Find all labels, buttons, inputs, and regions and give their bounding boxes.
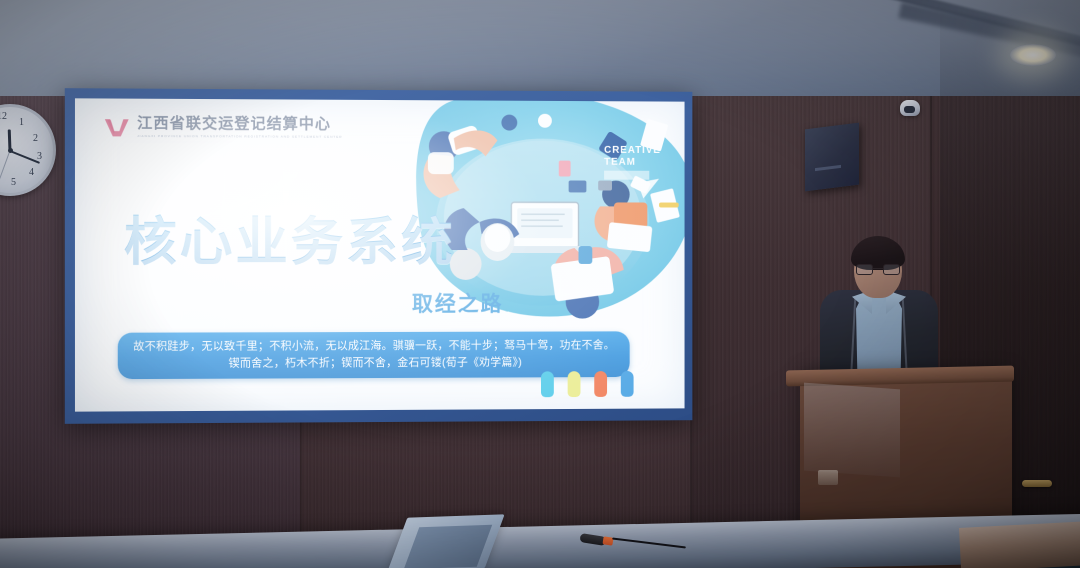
organization-logo-mark-icon xyxy=(104,117,130,137)
org-name-en: JIANGXI PROVINCE UNION TRANSPORTATION RE… xyxy=(137,135,342,139)
slide-title: 核心业务系统 xyxy=(124,199,456,275)
org-name-cn: 江西省联交运登记结算中心 xyxy=(137,117,342,133)
conference-table-right-segment xyxy=(959,520,1080,568)
presenter-glasses-icon xyxy=(856,264,900,275)
illustration-caption-line2: TEAM xyxy=(604,157,636,168)
slide-subtitle: 取经之路 xyxy=(412,288,503,318)
pill-yellow xyxy=(568,371,581,397)
slide-logo: 江西省联交运登记结算中心 JIANGXI PROVINCE UNION TRAN… xyxy=(104,117,343,139)
clock-numeral: 1 xyxy=(19,117,24,128)
gooseneck-microphone xyxy=(580,535,664,544)
wall-power-outlet xyxy=(818,470,838,485)
clock-numeral: 2 xyxy=(33,133,38,144)
pill-cyan xyxy=(541,371,554,397)
wall-speaker xyxy=(805,123,859,192)
glasses-lens-right xyxy=(883,264,900,275)
clock-minute-hand xyxy=(10,150,40,164)
clock-numeral: 12 xyxy=(0,111,7,122)
clock-center-pin xyxy=(8,148,13,153)
projection-screen: 江西省联交运登记结算中心 JIANGXI PROVINCE UNION TRAN… xyxy=(65,88,693,424)
pill-blue xyxy=(621,371,634,397)
glasses-lens-left xyxy=(856,264,873,275)
clock-second-hand xyxy=(0,150,10,179)
glasses-bridge xyxy=(873,268,883,269)
podium-front-highlight xyxy=(804,383,900,478)
slide-canvas: 江西省联交运登记结算中心 JIANGXI PROVINCE UNION TRAN… xyxy=(75,98,685,411)
presentation-photo-scene: 12 1 2 3 4 5 6 江西省联交运登记结算中心 JIANGXI PROV… xyxy=(0,0,1080,568)
pill-orange xyxy=(594,371,607,397)
illustration-caption-cn xyxy=(604,171,649,180)
slide-decorative-pills xyxy=(541,371,634,397)
clock-numeral: 5 xyxy=(11,177,16,188)
slide-logo-text: 江西省联交运登记结算中心 JIANGXI PROVINCE UNION TRAN… xyxy=(137,117,342,139)
clock-numeral: 4 xyxy=(29,167,34,178)
illustration-caption-line1: CREATIVE xyxy=(604,145,661,156)
door-handle xyxy=(1022,480,1052,487)
security-camera-icon xyxy=(900,100,920,116)
